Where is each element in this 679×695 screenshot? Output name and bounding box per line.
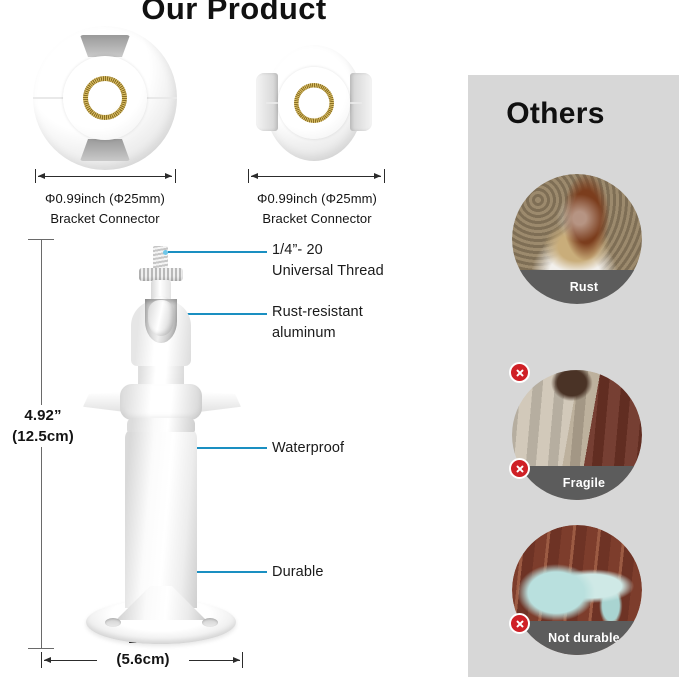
callout-label-aluminum: Rust-resistant aluminum [272, 302, 462, 344]
adjust-collar [120, 384, 202, 420]
callout-label-thread: 1/4”- 20 Universal Thread [272, 240, 462, 282]
x-mark-icon-fragile [509, 458, 530, 479]
infographic-canvas: Our Product Φ0.99inch (Φ25mm) Bracket Co… [0, 0, 679, 695]
others-panel: Others Rust Fragile Not durable [468, 75, 679, 677]
width-dimension-tick-left [41, 652, 42, 668]
height-dimension-label: 4.92” (12.5cm) [0, 405, 86, 447]
x-mark-icon-rust [509, 362, 530, 383]
other-card-fragile[interactable]: Fragile [512, 370, 642, 500]
adjust-wing-right [199, 392, 241, 412]
other-card-rust[interactable]: Rust [512, 174, 642, 304]
x-mark-icon-not-durable [509, 613, 530, 634]
base-screw-hole-right [202, 618, 218, 627]
callout-label-durable: Durable [272, 562, 462, 583]
barrel-top-ring [127, 418, 195, 432]
other-caption-not-durable: Not durable [512, 621, 642, 655]
mount-barrel [125, 428, 197, 608]
other-caption-fragile: Fragile [512, 466, 642, 500]
others-title: Others [468, 97, 643, 131]
base-screw-hole-left [105, 618, 121, 627]
other-caption-rust: Rust [512, 270, 642, 304]
adjust-wing-left [83, 392, 125, 412]
callout-line-thread [168, 251, 267, 253]
width-dimension-tick-right [242, 652, 243, 668]
callout-label-waterproof: Waterproof [272, 438, 462, 459]
height-dimension-cap-bottom [28, 648, 54, 649]
ball-joint-front [148, 300, 174, 336]
other-card-not-durable[interactable]: Not durable [512, 525, 642, 655]
